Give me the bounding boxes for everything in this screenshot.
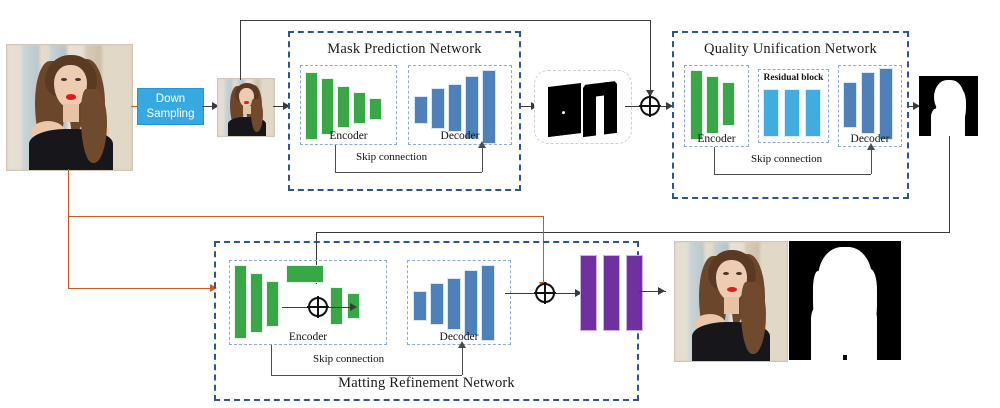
qun-encoder-bar-2 (706, 76, 719, 134)
coarse-mask-back-body (548, 103, 581, 137)
mpn-encoder-bar-3 (337, 86, 350, 128)
unified-mask-strand (955, 90, 966, 124)
qun-skip-left (714, 147, 715, 174)
path-unified-mask-left (316, 232, 950, 233)
diagram-canvas: Down Sampling Mask Prediction Network (0, 0, 1000, 408)
mrn-decoder-bar-5 (481, 265, 495, 341)
mask-prediction-network[interactable]: Mask Prediction Network Encoder Decoder … (288, 31, 521, 191)
mpn-encoder-bar-4 (353, 92, 366, 124)
mrn-encoder-label: Encoder (230, 331, 386, 343)
qun-encoder-bar-3 (722, 82, 735, 126)
arrow-matting-to-output (658, 287, 665, 295)
mpn-encoder-bar-5 (369, 98, 382, 120)
down-sampling-label: Down Sampling (147, 92, 195, 121)
qun-skip-arrow (867, 143, 875, 150)
neck (243, 106, 251, 114)
mpn-skip-left (335, 145, 336, 172)
qun-skip-right (871, 148, 872, 174)
mrn-encoder-bar-1 (234, 265, 247, 339)
mrn-decoder-bar-4 (464, 270, 478, 336)
sum-after-mask-prediction (640, 96, 660, 116)
mrn-encoder-sum-in (282, 307, 308, 308)
unified-mask-image (919, 76, 978, 136)
qun-skip-label: Skip connection (747, 153, 826, 165)
lips (727, 287, 737, 292)
matting-refinement-network-title: Matting Refinement Network (216, 375, 637, 392)
quality-unification-network-title: Quality Unification Network (674, 41, 907, 58)
coarse-mask-back (548, 83, 581, 137)
path-input-branch-upper (68, 216, 544, 217)
mrn-decoder-sum-in (505, 293, 535, 294)
path-toprail-horizontal (240, 20, 651, 21)
coarse-mask-pair-card (534, 70, 632, 144)
mrn-decoder-bar-3 (447, 278, 461, 330)
mrn-skip-label: Skip connection (309, 353, 388, 365)
qun-decoder-bar-2 (861, 72, 875, 134)
output-portrait-image (674, 241, 788, 362)
mrn-skip-right (462, 346, 463, 375)
sum-encoder-refinement (308, 297, 328, 317)
path-input-branch-lower (68, 288, 216, 289)
matting-refinement-network[interactable]: Matting Refinement Network Encoder Decod… (214, 241, 639, 401)
mpn-decoder-bar-2 (431, 88, 445, 129)
sum-decoder-refinement (535, 283, 555, 303)
mpn-decoder-label: Decoder (409, 130, 511, 142)
quality-unification-network[interactable]: Quality Unification Network Encoder Resi… (672, 31, 909, 199)
mrn-refine-bar-3 (626, 255, 643, 331)
neck (63, 104, 79, 122)
mrn-encoder-sum-arrow (350, 303, 357, 311)
mpn-decoder-bar-1 (414, 96, 428, 124)
input-portrait-image (6, 44, 133, 171)
mpn-encoder-box: Encoder (300, 65, 397, 145)
mrn-refine-bar-2 (603, 255, 620, 331)
unified-mask-notch (933, 106, 936, 109)
mrn-skip-arrow (458, 341, 466, 348)
mpn-encoder-bar-2 (321, 78, 334, 135)
qun-decoder-bar-3 (879, 68, 893, 140)
path-small-to-toprail-vertical (240, 20, 241, 80)
mpn-decoder-bar-3 (448, 84, 462, 132)
qun-residual-bar-2 (784, 89, 800, 137)
qun-residual-bar-1 (763, 89, 779, 137)
qun-decoder-box: Decoder (838, 65, 902, 147)
output-alpha-matte-image (789, 241, 901, 360)
path-coarse-mask-to-sum (625, 106, 640, 107)
alpha-notch (843, 355, 847, 360)
mpn-skip-arrow (478, 141, 486, 148)
mrn-decoder-bar-2 (430, 283, 444, 325)
qun-residual-box: Residual block (758, 69, 829, 143)
qun-residual-label: Residual block (759, 73, 828, 83)
qun-encoder-label: Encoder (685, 133, 748, 145)
alpha-strand-right (855, 269, 877, 339)
downsampled-portrait-image (217, 78, 275, 137)
mrn-decoder-box: Decoder (407, 260, 511, 345)
lips (244, 101, 249, 104)
qun-encoder-bar-1 (690, 70, 703, 140)
coarse-mask-front-notch (599, 105, 602, 108)
mrn-encoder-bar-3 (266, 281, 279, 327)
mpn-skip-label: Skip connection (352, 151, 431, 163)
lips (66, 94, 76, 100)
alpha-strand-left (813, 271, 829, 331)
qun-skip-bottom (714, 174, 871, 175)
mpn-skip-right (482, 146, 483, 172)
path-input-down (68, 169, 69, 288)
mrn-skip-left (271, 345, 272, 375)
qun-encoder-box: Encoder (684, 65, 749, 147)
mrn-encoder-bar-5 (330, 287, 343, 325)
qun-decoder-bar-1 (843, 82, 857, 128)
mpn-decoder-box: Decoder (408, 65, 512, 145)
down-sampling-block[interactable]: Down Sampling (137, 88, 204, 125)
path-unified-mask-down (949, 136, 950, 232)
mask-prediction-network-title: Mask Prediction Network (290, 41, 519, 58)
coarse-mask-front (583, 81, 617, 137)
mpn-encoder-label: Encoder (301, 130, 396, 142)
neck (724, 297, 739, 314)
mrn-skip-bottom (271, 375, 462, 376)
mrn-refine-bar-1 (580, 255, 597, 331)
mrn-encoder-bar-fused (286, 265, 324, 283)
mrn-decoder-bar-1 (413, 291, 427, 321)
mpn-skip-bottom (335, 172, 482, 173)
qun-residual-bar-3 (805, 89, 821, 137)
mrn-encoder-bar-2 (250, 273, 263, 333)
path-toprail-down-to-sum (650, 20, 651, 98)
